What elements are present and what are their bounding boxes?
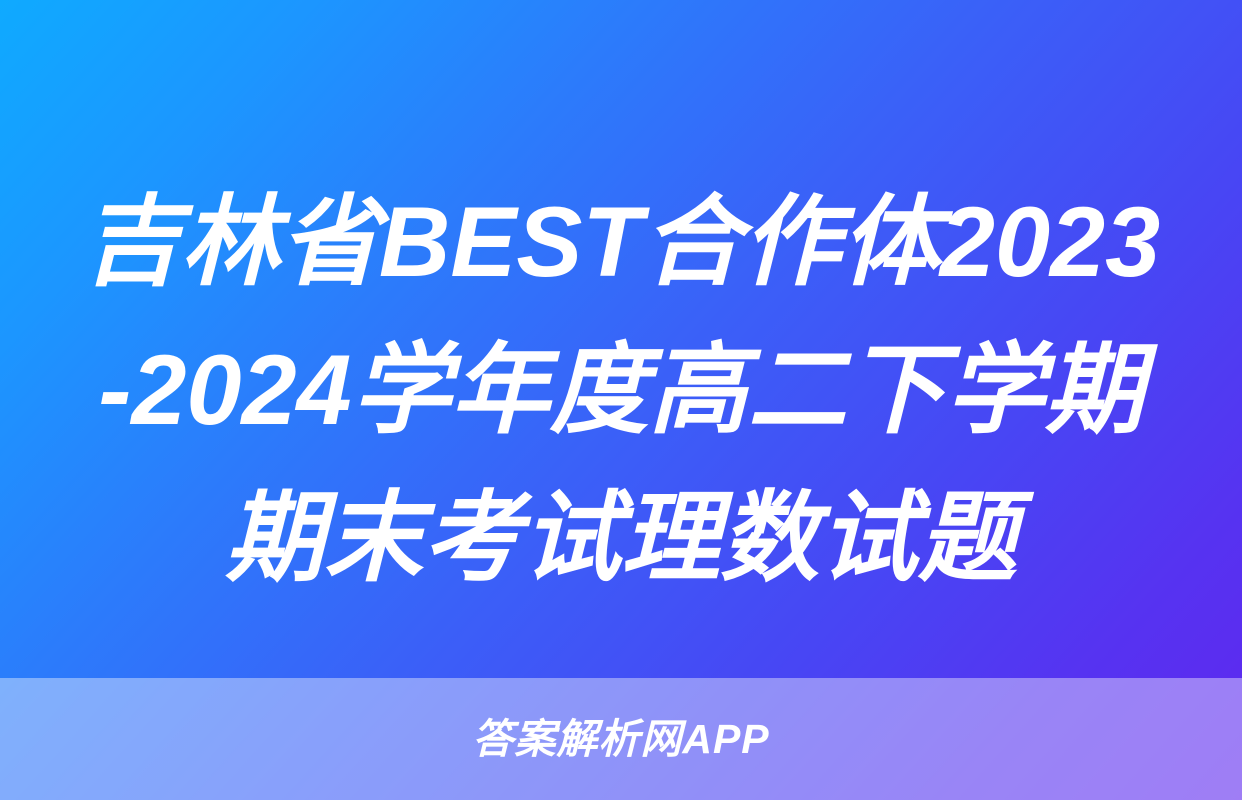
cover-banner: 吉林省BEST合作体2023 -2024学年度高二下学期 期末考试理数试题 答案…	[0, 0, 1242, 800]
watermark-app-label: 答案解析网APP	[472, 719, 769, 760]
title-line-1: 吉林省BEST合作体2023	[82, 168, 1160, 316]
watermark-band: 答案解析网APP	[0, 678, 1242, 800]
title-line-3: 期末考试理数试题	[225, 464, 1017, 612]
title-block: 吉林省BEST合作体2023 -2024学年度高二下学期 期末考试理数试题	[0, 168, 1242, 612]
title-line-2: -2024学年度高二下学期	[98, 316, 1143, 464]
